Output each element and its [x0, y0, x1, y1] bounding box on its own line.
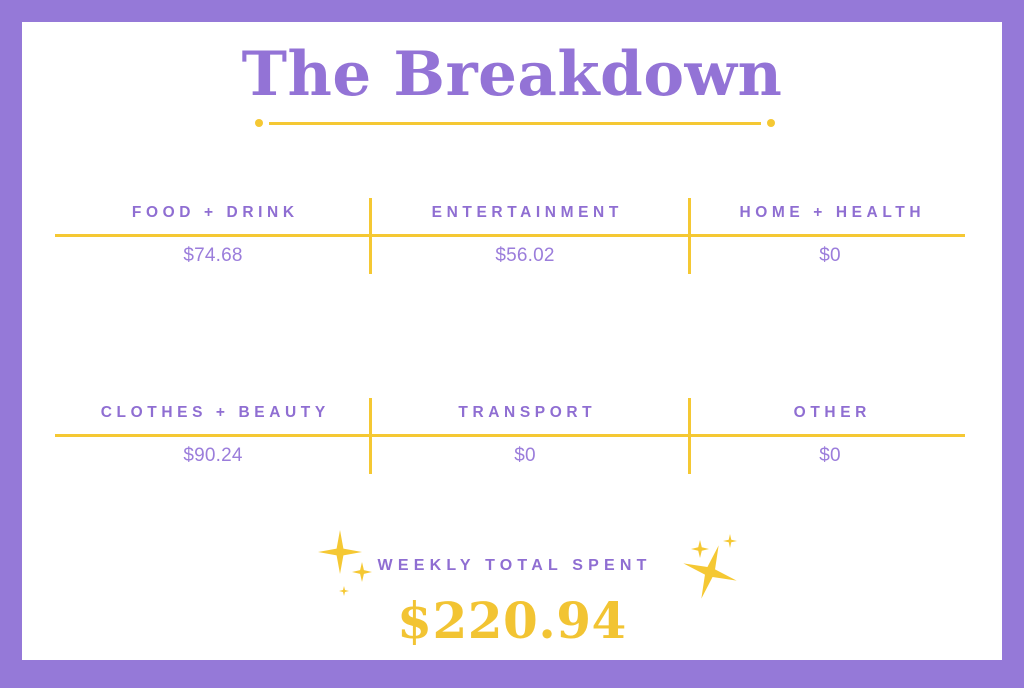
weekly-total-label: WEEKLY TOTAL SPENT	[22, 557, 1002, 575]
poster-canvas: The Breakdown FOOD + DRINK $74.68 ENTERT…	[22, 22, 1002, 660]
title-divider-dot-left	[255, 119, 263, 127]
weekly-total-amount: $220.94	[22, 596, 1002, 646]
row-vertical-divider-1	[369, 398, 372, 474]
category-label: ENTERTAINMENT	[375, 204, 675, 222]
category-amount: $90.24	[63, 445, 363, 467]
category-cell: OTHER $0	[695, 390, 965, 478]
title-divider-dot-right	[767, 119, 775, 127]
weekly-total-section: WEEKLY TOTAL SPENT $220.94	[22, 510, 1002, 660]
category-amount: $56.02	[375, 245, 675, 267]
category-cell: ENTERTAINMENT $56.02	[375, 190, 675, 278]
expense-breakdown-poster: The Breakdown FOOD + DRINK $74.68 ENTERT…	[0, 0, 1024, 688]
category-label: HOME + HEALTH	[695, 204, 965, 222]
breakdown-row: CLOTHES + BEAUTY $90.24 TRANSPORT $0 OTH…	[55, 390, 965, 478]
category-amount: $0	[695, 245, 965, 267]
category-amount: $0	[695, 445, 965, 467]
category-label: FOOD + DRINK	[63, 204, 363, 222]
row-vertical-divider-2	[688, 198, 691, 274]
breakdown-row: FOOD + DRINK $74.68 ENTERTAINMENT $56.02…	[55, 190, 965, 278]
category-amount: $74.68	[63, 245, 363, 267]
title-divider	[255, 118, 775, 128]
category-cell: FOOD + DRINK $74.68	[63, 190, 363, 278]
category-cell: HOME + HEALTH $0	[695, 190, 965, 278]
category-label: OTHER	[695, 404, 965, 422]
row-vertical-divider-2	[688, 398, 691, 474]
category-amount: $0	[375, 445, 675, 467]
category-label: TRANSPORT	[375, 404, 675, 422]
category-label: CLOTHES + BEAUTY	[63, 404, 363, 422]
category-cell: CLOTHES + BEAUTY $90.24	[63, 390, 363, 478]
category-cell: TRANSPORT $0	[375, 390, 675, 478]
title-divider-bar	[269, 122, 761, 125]
page-title: The Breakdown	[22, 44, 1002, 105]
row-vertical-divider-1	[369, 198, 372, 274]
